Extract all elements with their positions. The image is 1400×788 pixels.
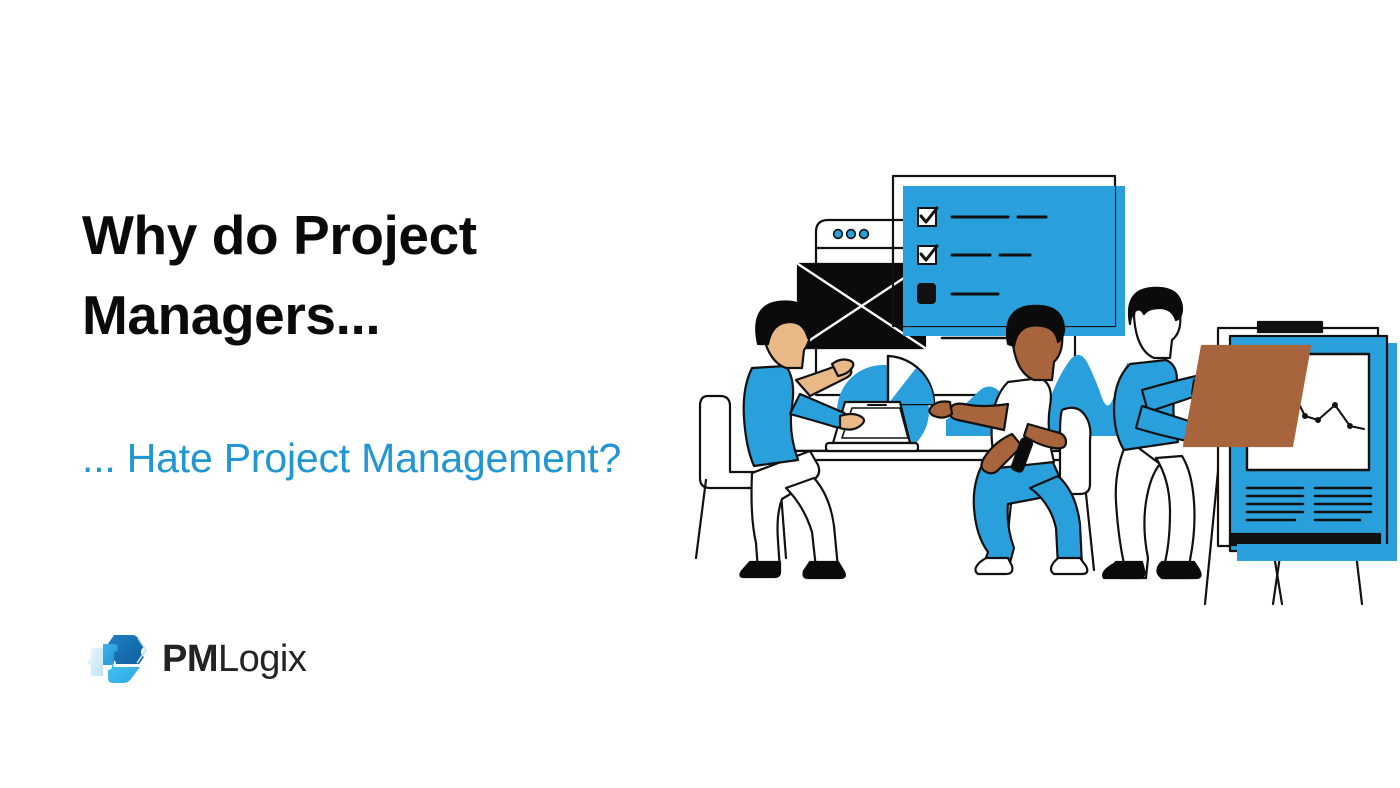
subtitle: ... Hate Project Management?: [82, 434, 782, 483]
brand-prefix: PM: [162, 638, 218, 680]
slide-canvas: Why do Project Managers... ... Hate Proj…: [0, 0, 1400, 788]
brand-suffix: Logix: [218, 638, 306, 680]
headline-block: Why do Project Managers...: [82, 196, 722, 356]
puzzle-piece-shield-mark: [86, 628, 148, 690]
brand-logo[interactable]: PMLogix: [86, 628, 306, 690]
page-title: Why do Project Managers...: [82, 196, 722, 356]
team-meeting-data-review-illustration: [690, 158, 1400, 618]
brand-wordmark: PMLogix: [162, 640, 306, 678]
traffic-light-dots: [834, 230, 869, 239]
clipboard-brown: [1184, 346, 1310, 446]
